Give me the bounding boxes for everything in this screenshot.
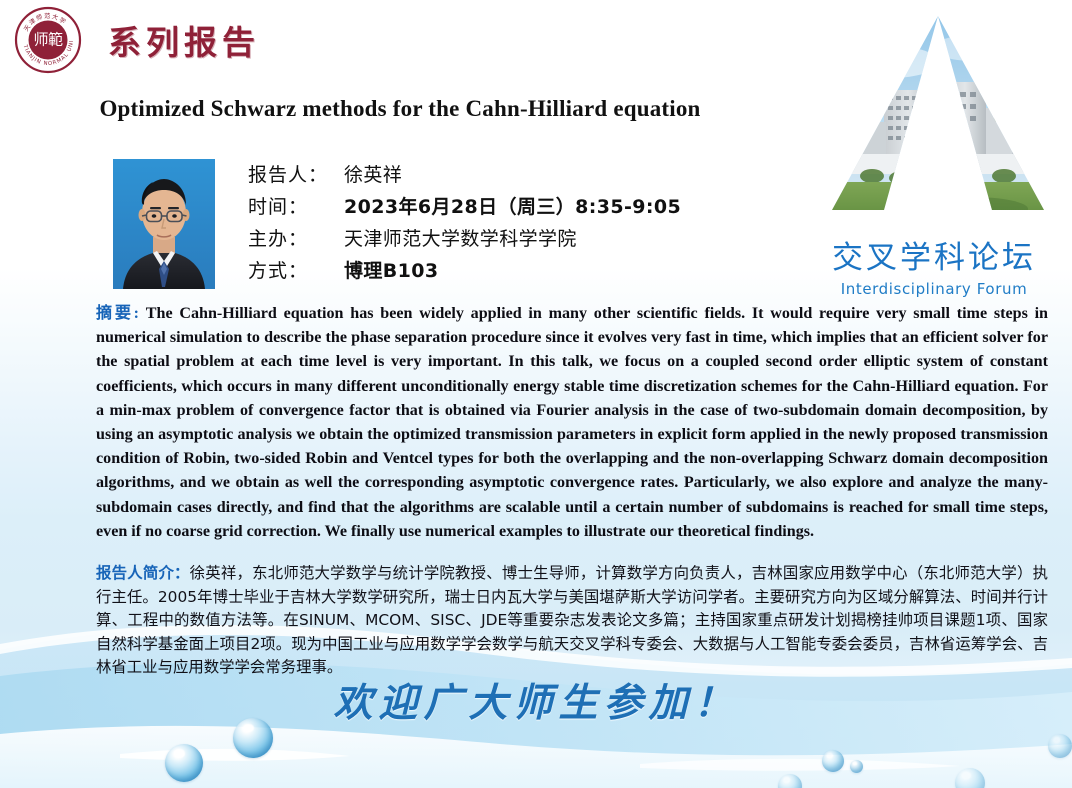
info-value-venue: 博理B103: [344, 256, 439, 283]
bio-text: 徐英祥，东北师范大学数学与统计学院教授、博士生导师，计算数学方向负责人，吉林国家…: [96, 564, 1048, 676]
university-seal-icon: 天津师范大学 TIANJIN NORMAL UNIVERSITY 师範 1958: [14, 6, 82, 74]
abstract-section: 摘要: The Cahn-Hilliard equation has been …: [96, 302, 1048, 544]
info-row-venue: 方式： 博理B103: [248, 256, 681, 288]
info-label-time: 时间：: [248, 192, 344, 219]
info-value-speaker: 徐英祥: [344, 160, 402, 187]
info-label-speaker: 报告人：: [248, 160, 344, 187]
info-value-time: 2023年6月28日（周三）8:35-9:05: [344, 192, 681, 219]
welcome-message: 欢迎广大师生参加！: [0, 672, 1072, 728]
bubble-decoration: [850, 760, 863, 773]
info-row-organizer: 主办： 天津师范大学数学科学学院: [248, 224, 681, 256]
bubble-decoration: [1048, 734, 1072, 758]
bubble-decoration: [778, 774, 802, 788]
forum-triangle-logo-icon: [822, 4, 1054, 226]
bubble-decoration: [955, 768, 985, 788]
svg-text:师範: 师範: [33, 31, 63, 49]
speaker-portrait: [113, 159, 215, 289]
info-row-speaker: 报告人： 徐英祥: [248, 160, 681, 192]
info-value-organizer: 天津师范大学数学科学学院: [344, 224, 577, 251]
svg-text:1958: 1958: [42, 55, 55, 61]
info-row-time: 时间： 2023年6月28日（周三）8:35-9:05: [248, 192, 681, 224]
bubble-decoration: [822, 750, 844, 772]
abstract-label: 摘要:: [96, 305, 139, 322]
abstract-text: The Cahn-Hilliard equation has been wide…: [96, 305, 1048, 540]
bubble-decoration: [165, 744, 203, 782]
page-title: Optimized Schwarz methods for the Cahn-H…: [0, 96, 800, 122]
forum-name-en: Interdisciplinary Forum: [816, 280, 1052, 298]
forum-name-cn: 交叉学科论坛: [816, 232, 1052, 277]
event-info-list: 报告人： 徐英祥 时间： 2023年6月28日（周三）8:35-9:05 主办：…: [248, 160, 681, 288]
series-title: 系列报告: [108, 16, 260, 64]
speaker-bio-section: 报告人简介：徐英祥，东北师范大学数学与统计学院教授、博士生导师，计算数学方向负责…: [96, 562, 1048, 680]
info-label-organizer: 主办：: [248, 224, 344, 251]
poster-header: 天津师范大学 TIANJIN NORMAL UNIVERSITY 师範 1958…: [14, 6, 260, 74]
info-label-venue: 方式：: [248, 256, 344, 283]
poster-canvas: 天津师范大学 TIANJIN NORMAL UNIVERSITY 师範 1958…: [0, 0, 1072, 788]
bio-label: 报告人简介：: [96, 564, 190, 582]
